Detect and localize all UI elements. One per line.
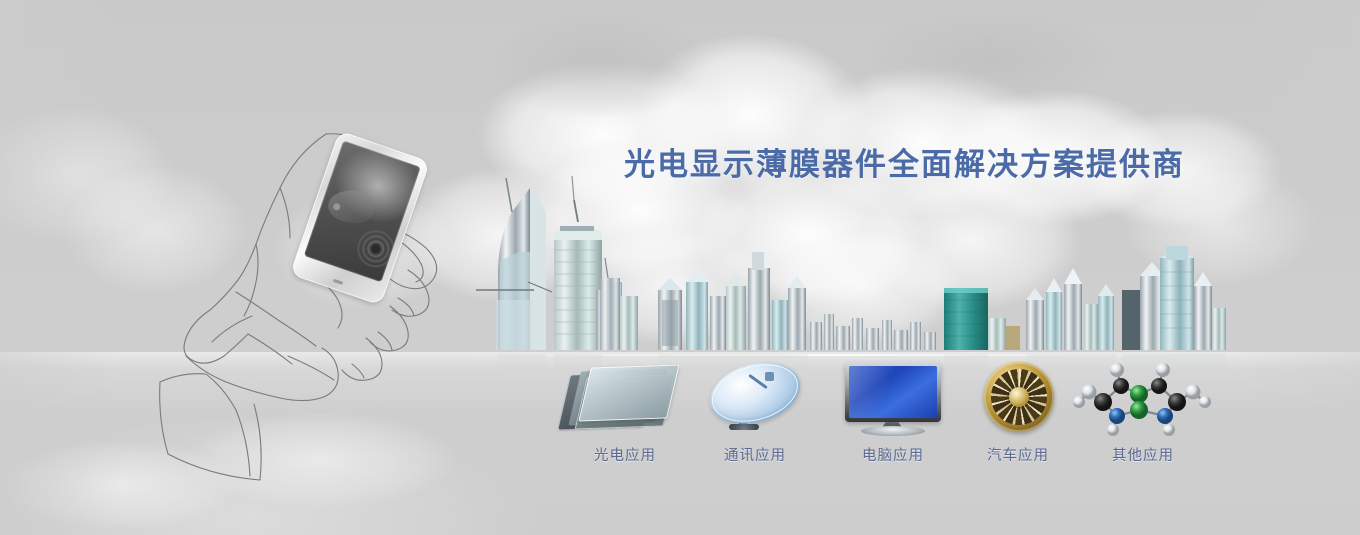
application-icon-row: 光电应用 通讯应用 电脑应用: [0, 0, 1360, 535]
computer-monitor-icon: [823, 358, 963, 436]
app-item-automotive[interactable]: 汽车应用: [948, 358, 1088, 465]
app-label-computer: 电脑应用: [823, 444, 963, 465]
app-label-automotive: 汽车应用: [948, 444, 1088, 465]
hero-banner: 光电显示薄膜器件全面解决方案提供商 光电应用 通讯应用: [0, 0, 1360, 535]
app-item-optoelectronic[interactable]: 光电应用: [555, 358, 695, 465]
glass-film-stack-icon: [555, 358, 695, 436]
molecule-model-icon: [1073, 358, 1213, 436]
app-item-communication[interactable]: 通讯应用: [685, 358, 825, 465]
satellite-dish-icon: [685, 358, 825, 436]
alloy-wheel-icon: [948, 358, 1088, 436]
app-item-other[interactable]: 其他应用: [1073, 358, 1213, 465]
app-label-optoelectronic: 光电应用: [555, 444, 695, 465]
app-label-communication: 通讯应用: [685, 444, 825, 465]
app-item-computer[interactable]: 电脑应用: [823, 358, 963, 465]
app-label-other: 其他应用: [1073, 444, 1213, 465]
